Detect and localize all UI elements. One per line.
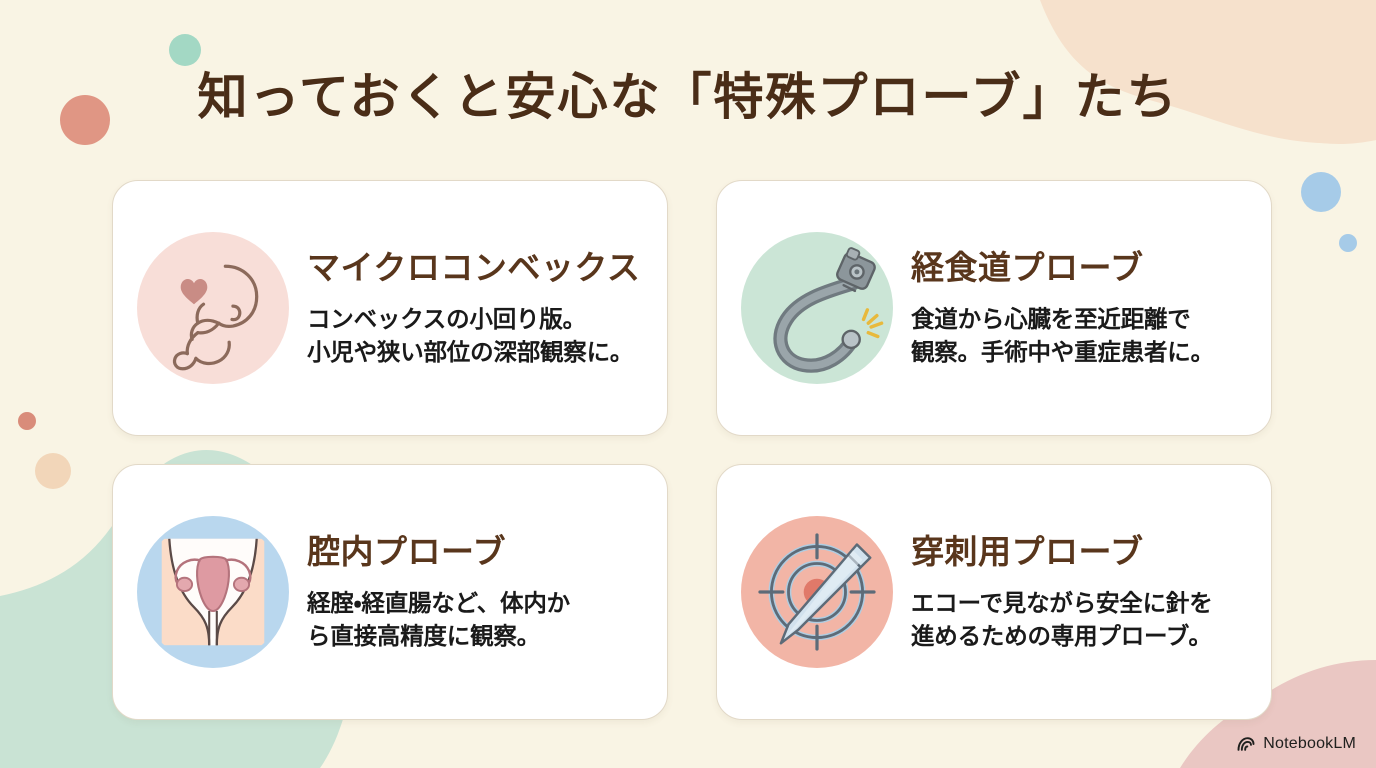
card-description: 経腟・経直腸など、体内か ら直接高精度に観察。 bbox=[307, 587, 641, 654]
card-description: 食道から心臓を至近距離で 観察。手術中や重症患者に。 bbox=[911, 303, 1245, 370]
rose-dot bbox=[18, 412, 36, 430]
card-description: コンベックスの小回り版。 小児や狭い部位の深部観察に。 bbox=[307, 303, 641, 370]
notebooklm-logo: NotebookLM bbox=[1236, 734, 1356, 754]
card-title: 腔内プローブ bbox=[307, 534, 641, 570]
card-body: マイクロコンベックス コンベックスの小回り版。 小児や狭い部位の深部観察に。 bbox=[307, 246, 641, 369]
card-title: マイクロコンベックス bbox=[307, 250, 641, 286]
card-desc-line: 食道から心臓を至近距離で bbox=[911, 303, 1245, 336]
card-desc-line: ら直接高精度に観察。 bbox=[307, 620, 641, 653]
card-title: 穿刺用プローブ bbox=[911, 534, 1245, 570]
card-desc-line: 経腟・経直腸など、体内か bbox=[307, 587, 641, 620]
pelvic-anatomy-icon bbox=[137, 516, 289, 668]
card-desc-line: 小児や狭い部位の深部観察に。 bbox=[307, 336, 641, 369]
card-description: エコーで見ながら安全に針を 進めるための専用プローブ。 bbox=[911, 587, 1245, 654]
probe-card-grid: マイクロコンベックス コンベックスの小回り版。 小児や狭い部位の深部観察に。 bbox=[112, 180, 1272, 720]
spark-accent bbox=[864, 310, 882, 337]
card-desc-line: コンベックスの小回り版。 bbox=[307, 303, 641, 336]
needle-target-icon bbox=[741, 516, 893, 668]
blue-dot-large bbox=[1301, 172, 1341, 212]
needle bbox=[781, 545, 870, 644]
fetus-icon bbox=[137, 232, 289, 384]
card-puncture[interactable]: 穿刺用プローブ エコーで見ながら安全に針を 進めるための専用プローブ。 bbox=[716, 464, 1272, 720]
notebooklm-label: NotebookLM bbox=[1263, 735, 1356, 753]
notebooklm-icon bbox=[1236, 734, 1256, 754]
peach-dot bbox=[35, 453, 71, 489]
card-body: 穿刺用プローブ エコーで見ながら安全に針を 進めるための専用プローブ。 bbox=[911, 530, 1245, 653]
card-body: 経食道プローブ 食道から心臓を至近距離で 観察。手術中や重症患者に。 bbox=[911, 246, 1245, 369]
card-desc-line: 観察。手術中や重症患者に。 bbox=[911, 336, 1245, 369]
endoscope-probe-icon bbox=[741, 232, 893, 384]
heart-accent bbox=[181, 279, 208, 304]
card-desc-line: 進めるための専用プローブ。 bbox=[911, 620, 1245, 653]
card-endocavity[interactable]: 腔内プローブ 経腟・経直腸など、体内か ら直接高精度に観察。 bbox=[112, 464, 668, 720]
slide-root: 知っておくと安心な「特殊プローブ」たち bbox=[0, 0, 1376, 768]
card-body: 腔内プローブ 経腟・経直腸など、体内か ら直接高精度に観察。 bbox=[307, 530, 641, 653]
card-desc-line: エコーで見ながら安全に針を bbox=[911, 587, 1245, 620]
page-title: 知っておくと安心な「特殊プローブ」たち bbox=[0, 57, 1376, 129]
card-transesophageal[interactable]: 経食道プローブ 食道から心臓を至近距離で 観察。手術中や重症患者に。 bbox=[716, 180, 1272, 436]
blue-dot-small bbox=[1339, 234, 1357, 252]
card-micro-convex[interactable]: マイクロコンベックス コンベックスの小回り版。 小児や狭い部位の深部観察に。 bbox=[112, 180, 668, 436]
card-title: 経食道プローブ bbox=[911, 250, 1245, 286]
